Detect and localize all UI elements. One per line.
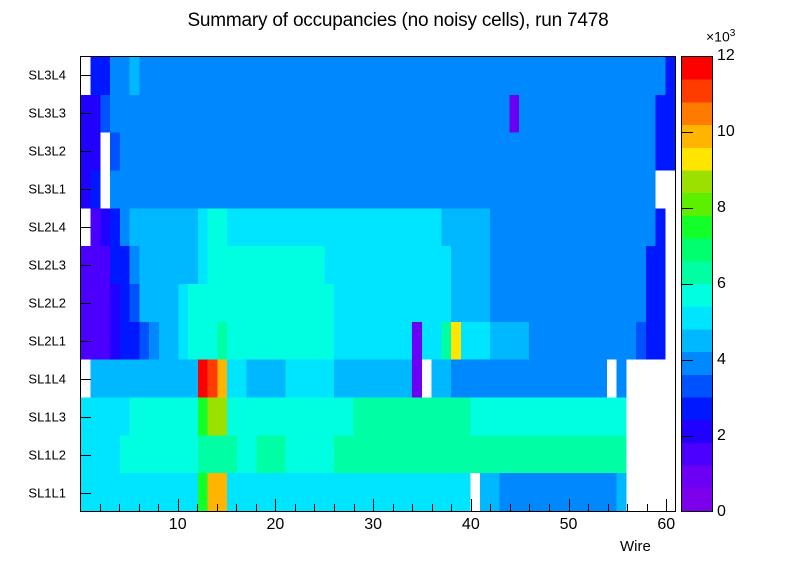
x-axis-tick-label-20: 20	[267, 516, 285, 534]
x-axis-minor-tick	[158, 504, 159, 512]
color-bar-tick-label-6: 6	[717, 275, 726, 293]
color-bar-tick	[681, 511, 693, 512]
y-axis-tick	[80, 455, 91, 456]
y-axis-tick	[80, 151, 91, 152]
x-axis-minor-tick	[354, 504, 355, 512]
x-axis-major-tick	[275, 499, 276, 512]
y-axis-tick	[80, 189, 91, 190]
y-axis-label-sl3l4: SL3L4	[28, 68, 66, 83]
y-axis-tick	[80, 113, 91, 114]
color-bar-tick	[681, 360, 693, 361]
x-axis-minor-tick	[451, 504, 452, 512]
x-axis-major-tick	[569, 499, 570, 512]
y-axis-tick	[80, 379, 91, 380]
x-axis-minor-tick	[647, 504, 648, 512]
x-axis-minor-tick	[490, 504, 491, 512]
x-axis-tick-label-10: 10	[169, 516, 187, 534]
x-axis-tick-label-30: 30	[364, 516, 382, 534]
x-axis-minor-tick	[529, 504, 530, 512]
y-axis-label-sl2l4: SL2L4	[28, 220, 66, 235]
plot-frame	[80, 56, 676, 512]
x-axis-major-tick	[178, 499, 179, 512]
y-axis-tick	[80, 265, 91, 266]
x-axis-minor-tick	[256, 504, 257, 512]
y-axis-label-sl1l1: SL1L1	[28, 486, 66, 501]
x-axis-minor-tick	[432, 504, 433, 512]
x-axis-minor-tick	[314, 504, 315, 512]
x-axis-minor-tick	[139, 504, 140, 512]
color-bar-tick-label-12: 12	[717, 47, 735, 65]
color-bar-tick-label-8: 8	[717, 199, 726, 217]
color-bar-tick	[681, 208, 693, 209]
x-axis-tick-label-50: 50	[560, 516, 578, 534]
color-bar-tick	[681, 56, 693, 57]
x-axis-minor-tick	[236, 504, 237, 512]
x-axis-minor-tick	[295, 504, 296, 512]
x-axis-minor-tick	[119, 504, 120, 512]
y-axis-labels: SL3L4SL3L3SL3L2SL3L1SL2L4SL2L3SL2L2SL2L1…	[0, 56, 76, 512]
y-axis-tick	[80, 417, 91, 418]
x-axis-minor-tick	[100, 504, 101, 512]
x-axis-minor-tick	[510, 504, 511, 512]
y-axis-label-sl3l3: SL3L3	[28, 106, 66, 121]
y-axis-tick	[80, 303, 91, 304]
y-axis-label-sl1l2: SL1L2	[28, 448, 66, 463]
x-axis-major-tick	[373, 499, 374, 512]
y-axis-label-sl3l2: SL3L2	[28, 144, 66, 159]
page-title: Summary of occupancies (no noisy cells),…	[0, 10, 796, 32]
y-axis-tick	[80, 75, 91, 76]
color-bar-exponent-power: 3	[730, 28, 736, 39]
color-bar-tick-label-2: 2	[717, 427, 726, 445]
x-axis-minor-tick	[627, 504, 628, 512]
y-axis-tick	[80, 341, 91, 342]
x-axis-major-tick	[471, 499, 472, 512]
root-plot-canvas: Summary of occupancies (no noisy cells),…	[0, 0, 796, 572]
y-axis-label-sl3l1: SL3L1	[28, 182, 66, 197]
x-axis-minor-tick	[588, 504, 589, 512]
x-axis-minor-tick	[80, 504, 81, 512]
x-axis-minor-tick	[217, 504, 218, 512]
x-axis-title: Wire	[620, 538, 651, 555]
y-axis-label-sl2l2: SL2L2	[28, 296, 66, 311]
color-bar-exponent: ×103	[706, 28, 735, 45]
x-axis-tick-label-60: 60	[657, 516, 675, 534]
color-bar-tick-label-4: 4	[717, 351, 726, 369]
x-axis-minor-tick	[197, 504, 198, 512]
heatmap-cells[interactable]	[81, 57, 675, 511]
y-axis-label-sl2l3: SL2L3	[28, 258, 66, 273]
color-bar-tick-label-10: 10	[717, 123, 735, 141]
x-axis-minor-tick	[393, 504, 394, 512]
heatmap-bitmap	[81, 57, 675, 511]
y-axis-tick	[80, 227, 91, 228]
x-axis-minor-tick	[549, 504, 550, 512]
color-bar-tick	[681, 436, 693, 437]
color-bar-tick-label-0: 0	[717, 503, 726, 521]
x-axis-minor-tick	[334, 504, 335, 512]
x-axis-major-tick	[666, 499, 667, 512]
y-axis-tick	[80, 493, 91, 494]
x-axis-minor-tick	[412, 504, 413, 512]
color-bar-exponent-base: ×10	[706, 29, 730, 45]
y-axis-label-sl1l4: SL1L4	[28, 372, 66, 387]
color-bar-tick	[681, 284, 693, 285]
x-axis-minor-tick	[608, 504, 609, 512]
color-bar-tick	[681, 132, 693, 133]
y-axis-label-sl1l3: SL1L3	[28, 410, 66, 425]
x-axis-tick-label-40: 40	[462, 516, 480, 534]
y-axis-label-sl2l1: SL2L1	[28, 334, 66, 349]
